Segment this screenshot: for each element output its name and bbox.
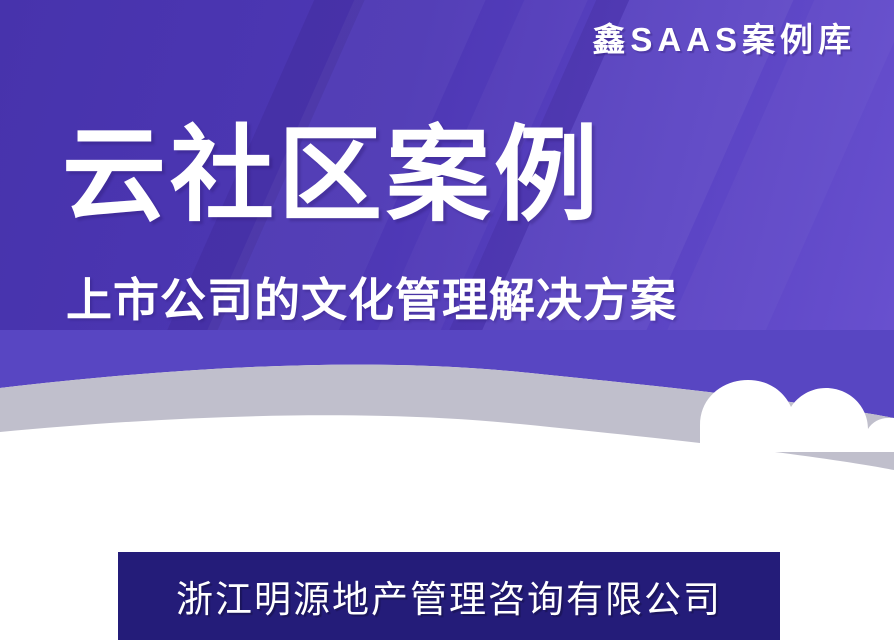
wave-cloud-decoration xyxy=(0,330,894,510)
brand-label: 鑫SAAS案例库 xyxy=(592,13,856,61)
page-title: 云社区案例 xyxy=(62,118,602,234)
page-subtitle: 上市公司的文化管理解决方案 xyxy=(66,274,677,327)
company-name-label: 浙江明源地产管理咨询有限公司 xyxy=(176,569,722,623)
company-name-bar: 浙江明源地产管理咨询有限公司 xyxy=(118,552,780,640)
poster-canvas: 鑫SAAS案例库 云社区案例 上市公司的文化管理解决方案 浙江明源地产管理咨询有… xyxy=(0,0,894,640)
